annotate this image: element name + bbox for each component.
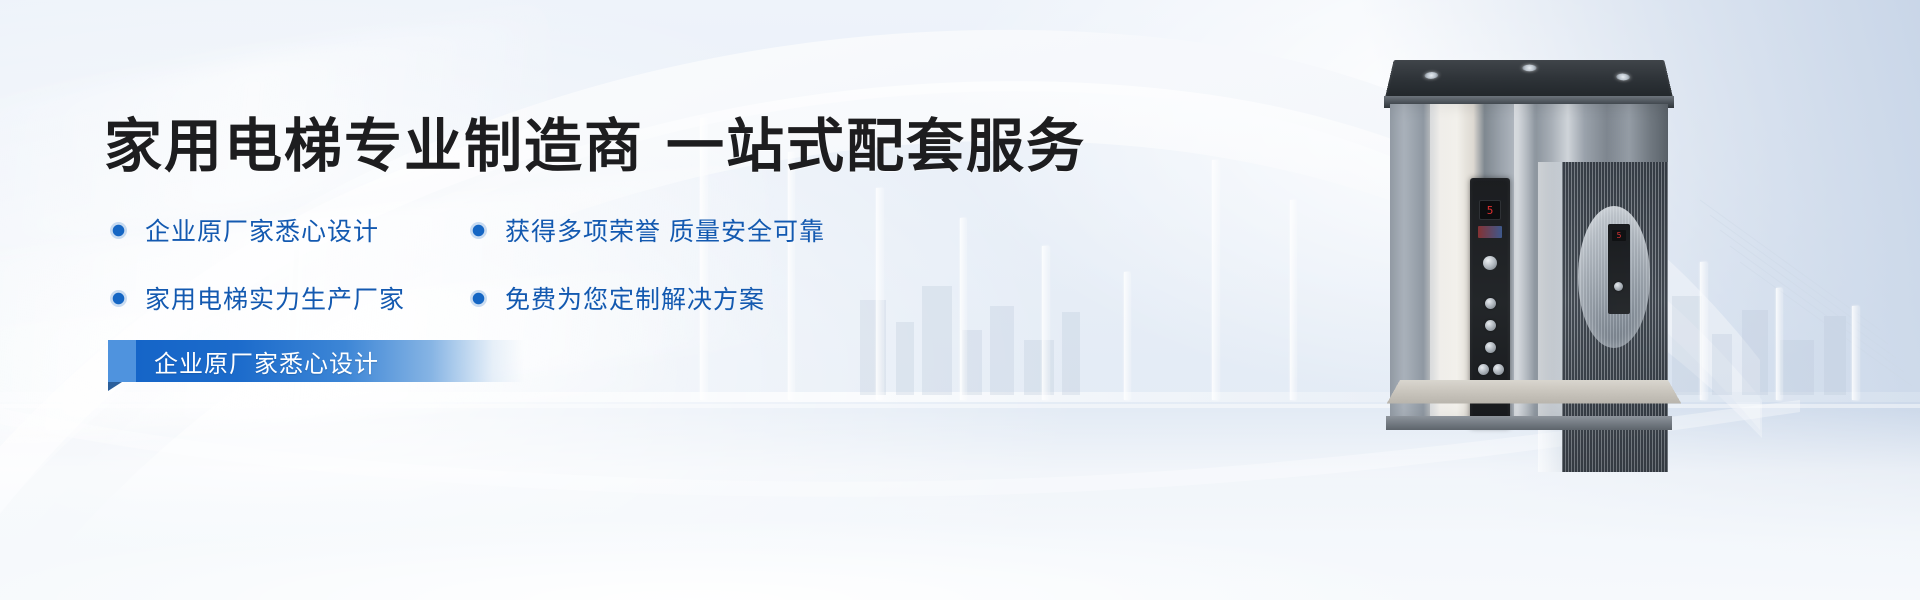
secondary-control-panel[interactable]: 5: [1608, 224, 1630, 314]
cabin-body: 5 5: [1390, 104, 1668, 420]
bullet-dot-icon: [470, 290, 487, 307]
feature-row-2: 家用电梯实力生产厂家 免费为您定制解决方案: [110, 280, 910, 316]
floor-button[interactable]: [1485, 298, 1496, 309]
floor-display-value: 5: [1487, 205, 1494, 216]
ceiling-light-icon: [1424, 72, 1439, 79]
feature-label: 家用电梯实力生产厂家: [145, 280, 405, 316]
alarm-button[interactable]: [1483, 256, 1497, 270]
floor-button[interactable]: [1485, 342, 1496, 353]
promo-banner: 家用电梯专业制造商一站式配套服务 企业原厂家悉心设计 获得多项荣誉 质量安全可靠…: [0, 0, 1920, 600]
floor-display: 5: [1479, 200, 1501, 220]
secondary-floor-button[interactable]: [1614, 282, 1623, 291]
bullet-dot-icon: [110, 290, 127, 307]
page-title: 家用电梯专业制造商一站式配套服务: [104, 115, 1086, 179]
feature-label: 获得多项荣誉 质量安全可靠: [505, 212, 825, 248]
banner-content: 家用电梯专业制造商一站式配套服务 企业原厂家悉心设计 获得多项荣誉 质量安全可靠…: [104, 0, 1104, 600]
ceiling-light-icon: [1522, 65, 1536, 72]
ribbon-fold-tab-icon: [108, 340, 136, 382]
cabin-wall-panel: [1514, 104, 1536, 420]
ribbon-label: 企业原厂家悉心设计: [136, 344, 379, 379]
feature-label: 企业原厂家悉心设计: [145, 212, 379, 248]
elevator-product-image: 5 5: [1384, 48, 1674, 420]
door-close-button[interactable]: [1493, 364, 1504, 375]
cabin-base: [1386, 416, 1672, 430]
feature-item-4: 免费为您定制解决方案: [470, 280, 870, 316]
bullet-dot-icon: [470, 222, 487, 239]
feature-list: 企业原厂家悉心设计 获得多项荣誉 质量安全可靠 家用电梯实力生产厂家 免费为您定…: [110, 212, 910, 316]
feature-item-3: 家用电梯实力生产厂家: [110, 280, 470, 316]
feature-item-2: 获得多项荣誉 质量安全可靠: [470, 212, 870, 248]
bullet-dot-icon: [110, 222, 127, 239]
cabin-floor: [1387, 380, 1681, 403]
headline-part-2: 一站式配套服务: [666, 114, 1086, 179]
headline-part-1: 家用电梯专业制造商: [104, 114, 644, 179]
feature-item-1: 企业原厂家悉心设计: [110, 212, 470, 248]
ribbon-body: 企业原厂家悉心设计: [136, 340, 524, 382]
ceiling-light-icon: [1616, 74, 1631, 81]
highlight-ribbon: 企业原厂家悉心设计: [108, 340, 524, 382]
feature-row-1: 企业原厂家悉心设计 获得多项荣誉 质量安全可靠: [110, 212, 910, 248]
brand-logo: [1478, 226, 1502, 238]
door-open-button[interactable]: [1478, 364, 1489, 375]
feature-label: 免费为您定制解决方案: [505, 280, 765, 316]
floor-button[interactable]: [1485, 320, 1496, 331]
cabin-wall-panel: [1430, 104, 1464, 420]
secondary-floor-display: 5: [1612, 230, 1626, 241]
secondary-floor-display-value: 5: [1612, 230, 1626, 241]
